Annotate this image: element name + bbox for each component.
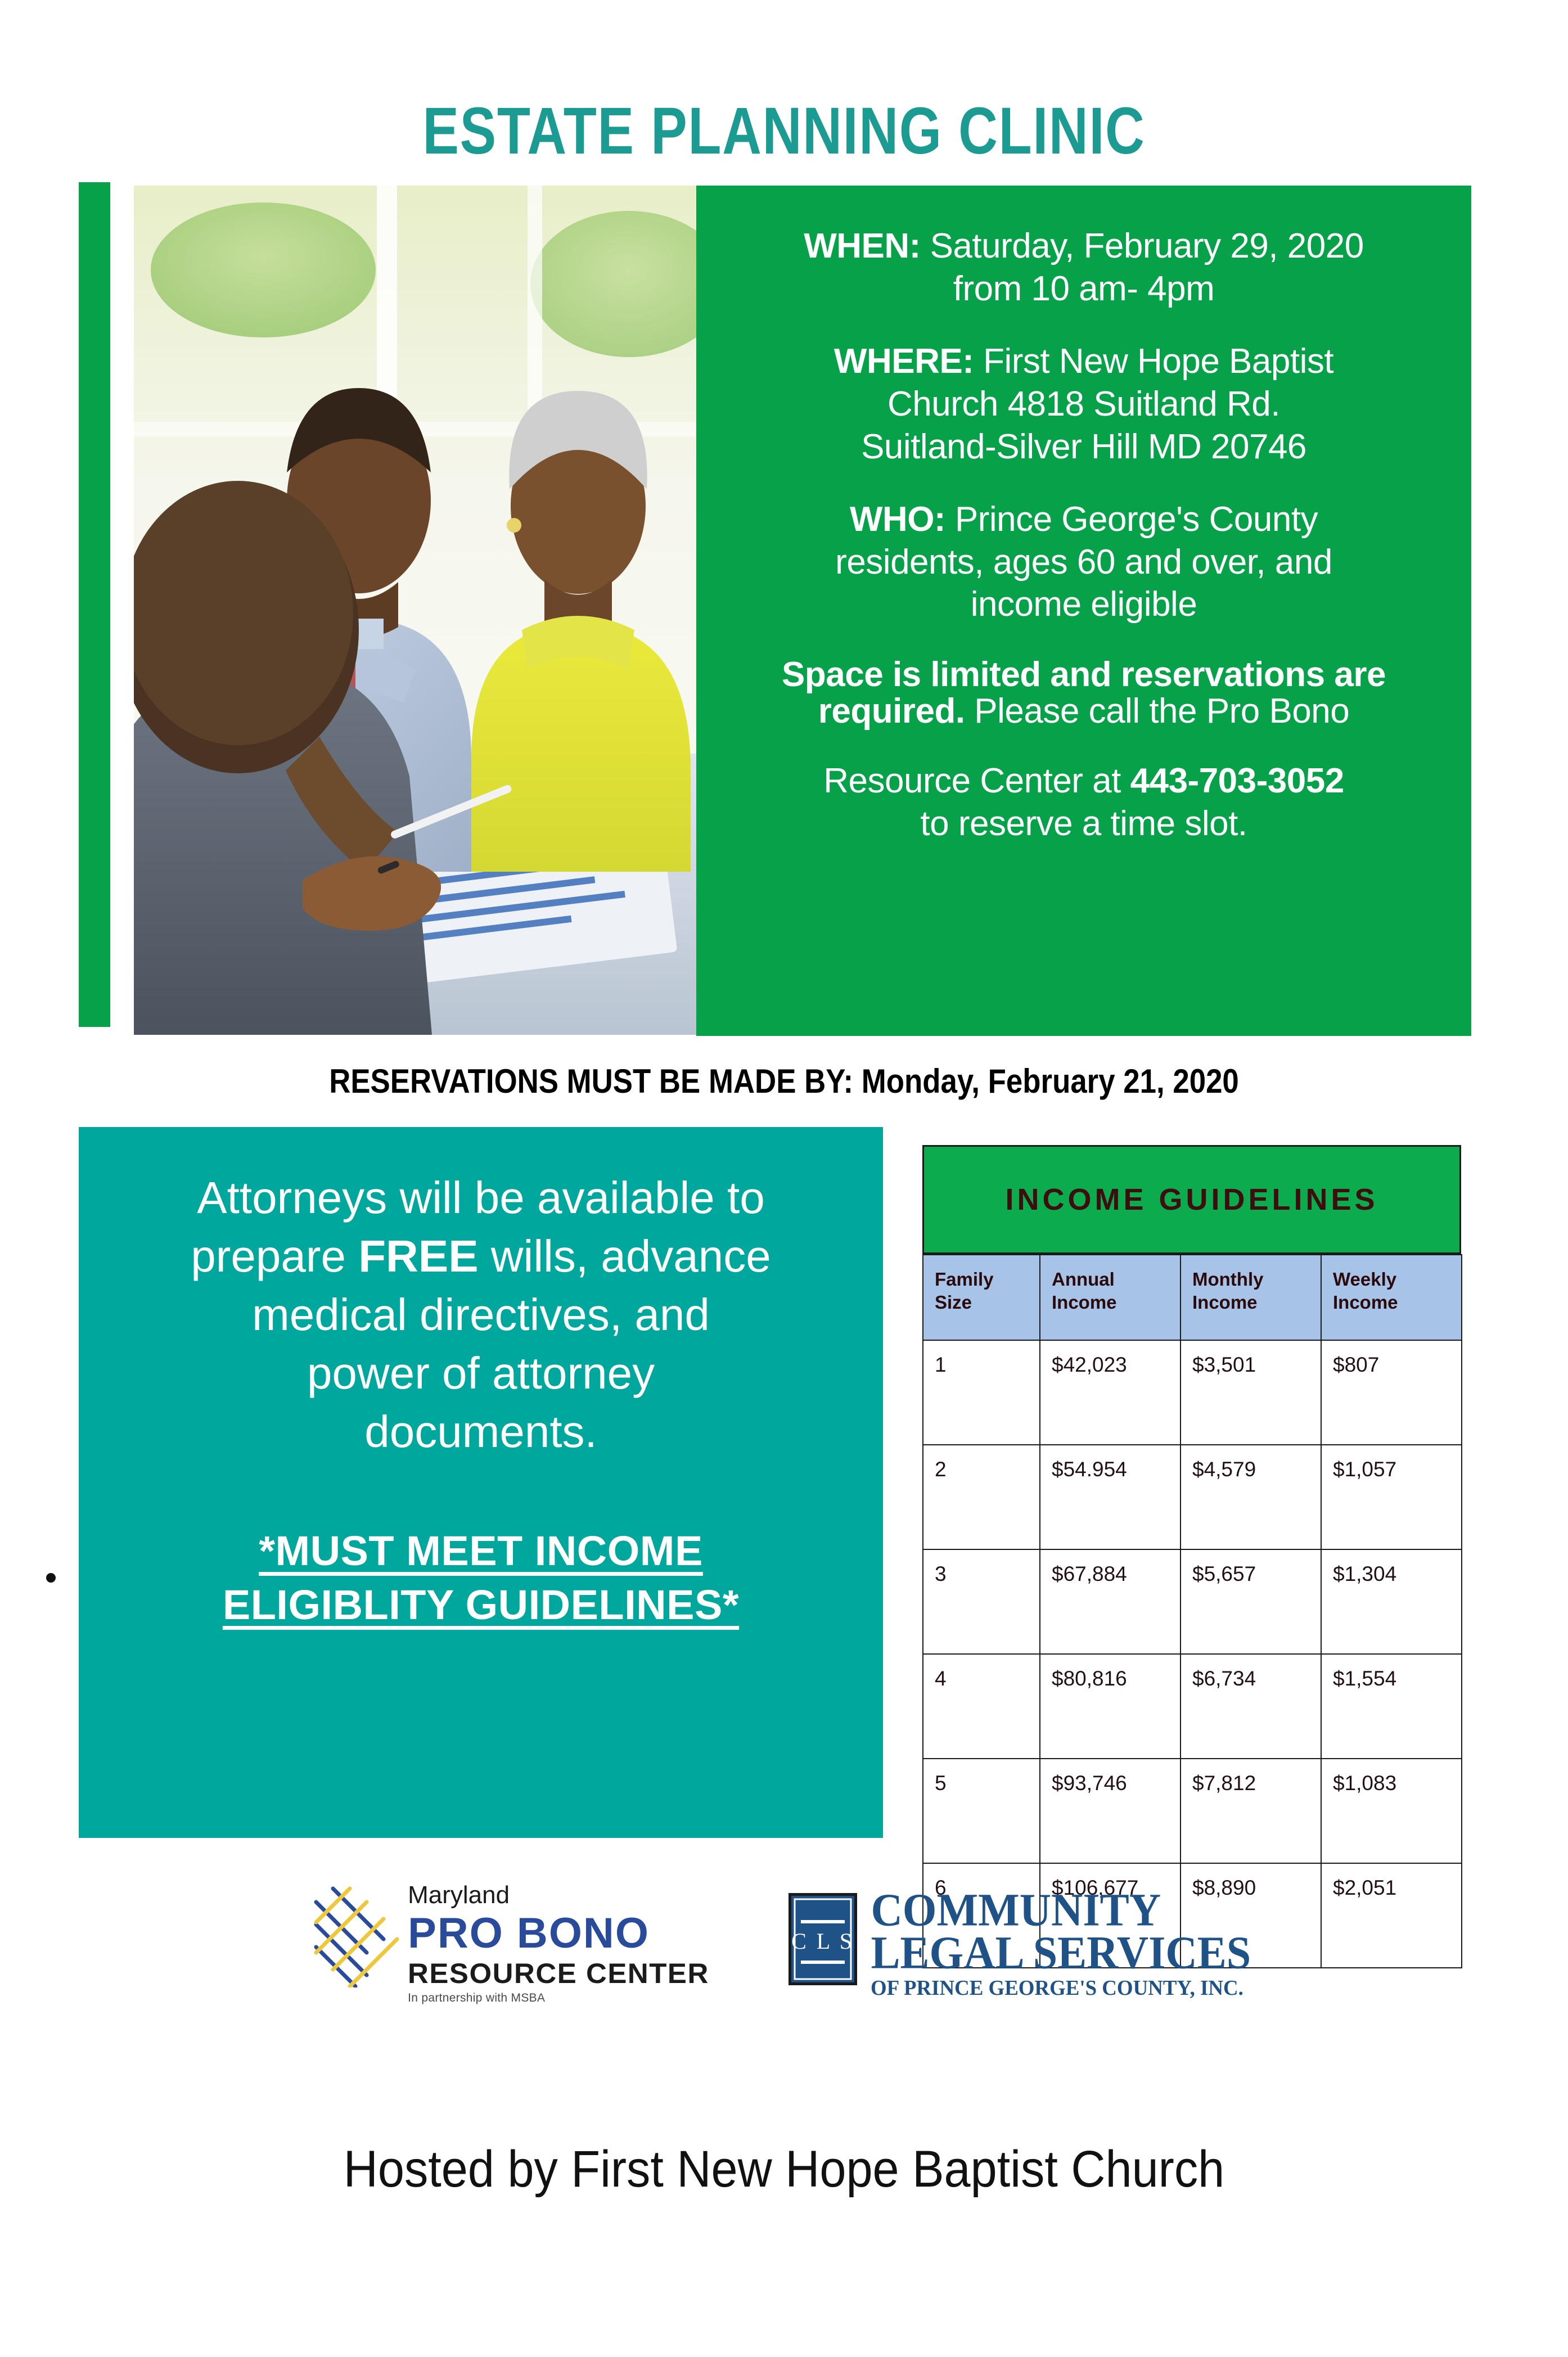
event-info-panel: WHEN: Saturday, February 29, 2020 from 1… [696,186,1471,1036]
deadline-label: RESERVATIONS MUST BE MADE BY: [329,1062,853,1100]
mpbrc-maryland: Maryland [408,1883,703,1908]
cell-family-size: 3 [923,1549,1040,1654]
cell-annual: $42,023 [1040,1340,1180,1445]
where-line: WHERE: First New Hope Baptist [730,340,1438,383]
cell-family-size: 5 [923,1759,1040,1863]
cell-monthly: $5,657 [1180,1549,1321,1654]
mpbrc-resource-center: RESOURCE CENTER [408,1959,709,1988]
table-row: 3 $67,884 $5,657 $1,304 [923,1549,1462,1654]
cell-annual: $93,746 [1040,1759,1180,1863]
services-free: FREE [358,1231,478,1281]
who-line: WHO: Prince George's County [730,498,1438,541]
mpbrc-wordmark: Maryland PRO BONO RESOURCE CENTER In par… [408,1878,703,2004]
income-guidelines-title-bar: INCOME GUIDELINES [922,1145,1461,1254]
phone-number[interactable]: 443-703-3052 [1130,761,1344,800]
cell-weekly: $1,554 [1321,1654,1462,1759]
cell-weekly: $1,057 [1321,1445,1462,1549]
reservation-block: Space is limited and reservations are re… [730,656,1438,729]
cls-wordmark: COMMUNITY LEGAL SERVICES OF PRINCE GEORG… [871,1878,1255,1999]
cell-weekly: $807 [1321,1340,1462,1445]
services-prepare: prepare [191,1231,358,1281]
services-line-2: prepare FREE wills, advance [110,1227,851,1286]
resource-center-line: Resource Center at 443-703-3052 [730,760,1438,803]
eligibility-line-1-wrap: *MUST MEET INCOME [110,1524,851,1578]
services-line-3: medical directives, and [110,1286,851,1344]
when-value: Saturday, February 29, 2020 [930,227,1364,265]
maryland-pro-bono-resource-center-logo: Maryland PRO BONO RESOURCE CENTER In par… [313,1878,703,2004]
who-block: WHO: Prince George's County residents, a… [730,498,1438,626]
phone-block: Resource Center at 443-703-3052 to reser… [730,760,1438,845]
cell-annual: $54.954 [1040,1445,1180,1549]
eligibility-note: *MUST MEET INCOME ELIGIBLITY GUIDELINES* [110,1524,851,1632]
table-header-row: Family Size Annual Income Monthly Income… [923,1255,1462,1340]
table-row: 4 $80,816 $6,734 $1,554 [923,1654,1462,1759]
services-panel: Attorneys will be available to prepare F… [79,1127,883,1838]
when-label: WHEN: [804,227,921,265]
mpbrc-partnership: In partnership with MSBA [408,1992,703,2004]
eligibility-line-1: *MUST MEET INCOME [259,1524,703,1578]
who-line3: income eligible [730,583,1438,626]
when-line: WHEN: Saturday, February 29, 2020 [730,225,1438,268]
table-row: 1 $42,023 $3,501 $807 [923,1340,1462,1445]
cls-legal-services: LEGAL SERVICES [871,1930,1255,1975]
mpbrc-pro-bono: PRO BONO [408,1912,703,1955]
crosshatch-icon [313,1885,400,1988]
where-label: WHERE: [834,342,974,381]
cell-monthly: $7,812 [1180,1759,1321,1863]
cls-monogram-icon: C L S [787,1892,858,1986]
column-header-family-size: Family Size [923,1255,1040,1340]
space-limited-rest: Please call the Pro Bono [965,692,1350,731]
cls-community: COMMUNITY [871,1887,1255,1932]
sponsor-logos: Maryland PRO BONO RESOURCE CENTER In par… [0,1878,1568,2036]
hosted-by-footer: Hosted by First New Hope Baptist Church [63,2140,1506,2199]
column-header-weekly-income: Weekly Income [1321,1255,1462,1340]
income-guidelines-table: Family Size Annual Income Monthly Income… [922,1254,1462,1968]
services-after-free: wills, advance [479,1231,771,1281]
deadline-date: Monday, February 21, 2020 [853,1062,1239,1100]
services-line-4: power of attorney [110,1344,851,1403]
svg-text:C L S: C L S [792,1928,855,1954]
income-guidelines-section: INCOME GUIDELINES Family Size Annual Inc… [922,1145,1461,1968]
eligibility-line-2: ELIGIBLITY GUIDELINES* [223,1578,739,1632]
cell-monthly: $6,734 [1180,1654,1321,1759]
green-accent-bar [79,182,110,1027]
services-line-5: documents. [110,1403,851,1461]
where-line2: Church 4818 Suitland Rd. [730,383,1438,426]
cell-weekly: $1,083 [1321,1759,1462,1863]
where-block: WHERE: First New Hope Baptist Church 481… [730,340,1438,468]
space-limited-line: Space is limited and reservations are re… [730,656,1438,729]
community-legal-services-logo: C L S COMMUNITY LEGAL SERVICES OF PRINCE… [787,1878,1255,1999]
cls-county: OF PRINCE GEORGE'S COUNTY, INC. [871,1978,1243,1999]
cell-family-size: 2 [923,1445,1040,1549]
cell-monthly: $3,501 [1180,1340,1321,1445]
who-label: WHO: [850,500,945,539]
table-row: 2 $54.954 $4,579 $1,057 [923,1445,1462,1549]
page-title: ESTATE PLANNING CLINIC [141,93,1427,169]
resource-center-prefix: Resource Center at [823,761,1130,800]
reservation-deadline: RESERVATIONS MUST BE MADE BY: Monday, Fe… [94,1062,1474,1101]
cell-weekly: $1,304 [1321,1549,1462,1654]
when-time: from 10 am- 4pm [730,268,1438,310]
cell-annual: $67,884 [1040,1549,1180,1654]
stray-dot-artifact [46,1573,56,1583]
reserve-suffix: to reserve a time slot. [730,803,1438,845]
where-value: First New Hope Baptist [983,342,1333,381]
income-guidelines-title: INCOME GUIDELINES [1005,1182,1378,1217]
who-value: Prince George's County [955,500,1318,539]
column-header-monthly-income: Monthly Income [1180,1255,1321,1340]
services-line-1: Attorneys will be available to [110,1169,851,1227]
cell-monthly: $4,579 [1180,1445,1321,1549]
clinic-photo [134,186,696,1035]
who-line2: residents, ages 60 and over, and [730,541,1438,584]
table-row: 5 $93,746 $7,812 $1,083 [923,1759,1462,1863]
cell-family-size: 4 [923,1654,1040,1759]
cell-annual: $80,816 [1040,1654,1180,1759]
cell-family-size: 1 [923,1340,1040,1445]
where-line3: Suitland-Silver Hill MD 20746 [730,426,1438,468]
when-block: WHEN: Saturday, February 29, 2020 from 1… [730,225,1438,310]
column-header-annual-income: Annual Income [1040,1255,1180,1340]
eligibility-line-2-wrap: ELIGIBLITY GUIDELINES* [110,1578,851,1632]
services-description: Attorneys will be available to prepare F… [110,1169,851,1461]
